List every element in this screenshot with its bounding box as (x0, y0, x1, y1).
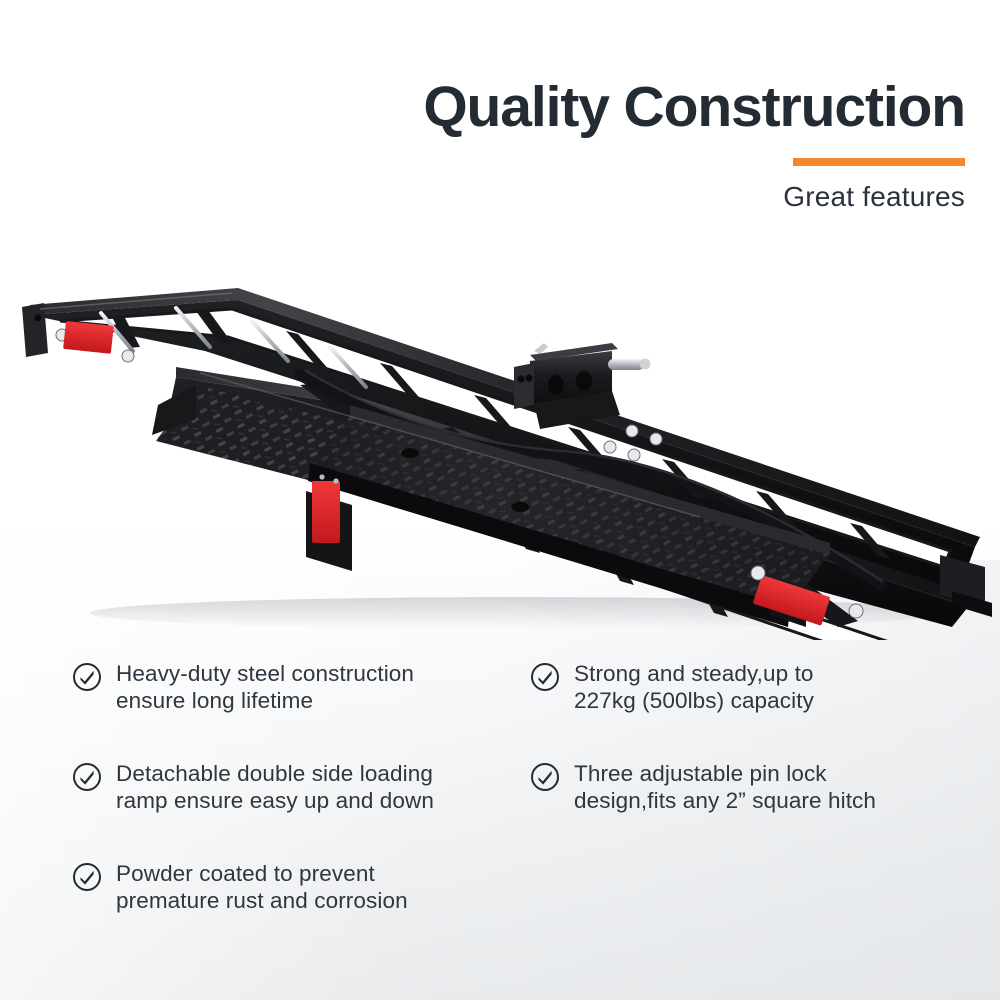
feature-line-2: design,fits any 2” square hitch (574, 787, 876, 814)
header: Quality Construction Great features (205, 78, 965, 213)
feature-text: Heavy-duty steel construction ensure lon… (116, 660, 414, 714)
check-circle-icon (72, 662, 102, 697)
check-circle-icon (72, 862, 102, 897)
feature-line-1: Heavy-duty steel construction (116, 661, 414, 686)
feature-list: Heavy-duty steel construction ensure lon… (72, 660, 972, 960)
feature-line-1: Powder coated to prevent (116, 861, 375, 886)
product-illustration (0, 255, 1000, 640)
feature-line-2: ramp ensure easy up and down (116, 787, 434, 814)
check-circle-icon (530, 662, 560, 697)
feature-text: Detachable double side loading ramp ensu… (116, 760, 434, 814)
feature-text: Strong and steady,up to 227kg (500lbs) c… (574, 660, 814, 714)
feature-item: Powder coated to prevent premature rust … (72, 860, 530, 960)
hitch-pin (608, 359, 644, 370)
feature-text: Powder coated to prevent premature rust … (116, 860, 408, 914)
product-image (0, 255, 1000, 640)
accent-bar (793, 158, 965, 166)
check-circle-icon (72, 762, 102, 797)
feature-item: Detachable double side loading ramp ensu… (72, 760, 530, 860)
feature-item: Heavy-duty steel construction ensure lon… (72, 660, 530, 760)
feature-line-2: 227kg (500lbs) capacity (574, 687, 814, 714)
pin-hole-2 (576, 371, 592, 391)
feature-text: Three adjustable pin lock design,fits an… (574, 760, 876, 814)
page-subtitle: Great features (205, 181, 965, 213)
feature-item: Three adjustable pin lock design,fits an… (530, 760, 972, 860)
page-title: Quality Construction (205, 78, 965, 138)
check-circle-icon (530, 762, 560, 797)
reflector-rear-left (63, 321, 114, 354)
feature-item: Strong and steady,up to 227kg (500lbs) c… (530, 660, 972, 760)
feature-line-2: premature rust and corrosion (116, 887, 408, 914)
feature-line-1: Three adjustable pin lock (574, 761, 827, 786)
reflector-center (312, 481, 340, 543)
feature-line-1: Strong and steady,up to (574, 661, 814, 686)
feature-line-1: Detachable double side loading (116, 761, 433, 786)
feature-line-2: ensure long lifetime (116, 687, 414, 714)
pin-hole-1 (548, 375, 564, 395)
